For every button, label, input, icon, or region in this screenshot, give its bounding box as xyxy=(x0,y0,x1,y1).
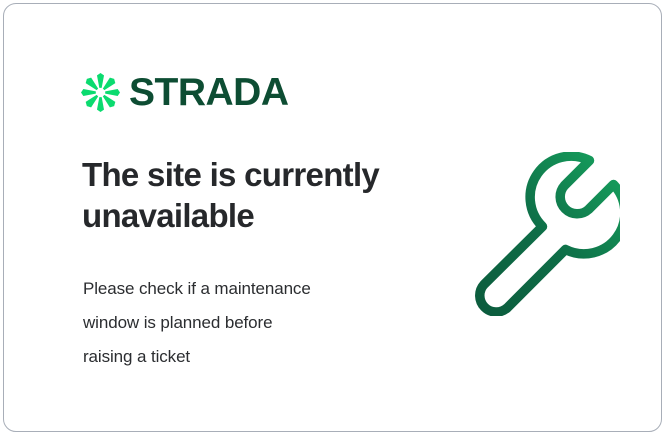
description-line-3: raising a ticket xyxy=(83,340,403,374)
strada-asterisk-icon xyxy=(81,73,120,112)
page-description: Please check if a maintenance window is … xyxy=(83,272,403,374)
description-line-2: window is planned before xyxy=(83,306,403,340)
status-card: STRADA The site is currently unavailable… xyxy=(3,3,662,432)
maintenance-page: STRADA The site is currently unavailable… xyxy=(0,0,666,436)
wrench-icon xyxy=(456,152,620,316)
brand-wordmark: STRADA xyxy=(129,73,289,112)
description-line-1: Please check if a maintenance xyxy=(83,272,403,306)
page-title: The site is currently unavailable xyxy=(82,154,442,236)
brand-lockup: STRADA xyxy=(81,73,289,112)
